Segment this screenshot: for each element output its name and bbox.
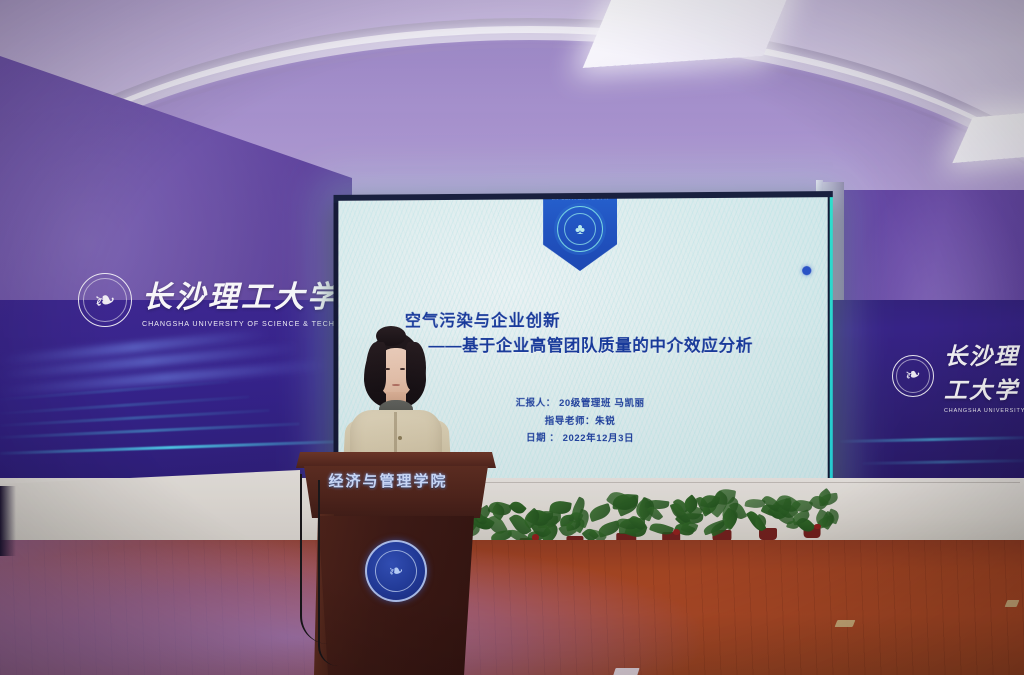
power-cable: [318, 480, 338, 666]
skirt-seam: [460, 482, 1020, 483]
plant-foliage: [548, 503, 601, 541]
presenter-hair-right: [406, 342, 426, 390]
plant-leaf: [647, 504, 664, 522]
floor-paper-scrap: [612, 668, 639, 675]
screen-edge-highlight: [830, 197, 833, 493]
plant-leaf: [549, 499, 571, 515]
potted-plant: [644, 495, 699, 544]
cardigan-button: [398, 436, 402, 440]
left-shadow-band: [0, 486, 16, 556]
presentation-photo: ❧ 长沙理工大学 CHANGSHA UNIVERSITY OF SCIENCE …: [0, 0, 1024, 675]
floor-tape-marker: [835, 620, 856, 627]
badge-seal-icon: ♣: [557, 206, 603, 252]
potted-plant: [786, 491, 839, 538]
presenter-hair-left: [366, 342, 386, 392]
plant-red-flower: [814, 524, 821, 530]
university-name-en: CHANGSHA UNIVERSITY OF: [944, 408, 1024, 414]
slide-corner-dot: [802, 266, 811, 275]
plant-leaf: [649, 520, 674, 537]
university-seal-icon: ❧: [78, 273, 132, 327]
plant-foliage: [786, 494, 839, 532]
badge-seal-glyph: ♣: [564, 213, 596, 245]
slide-title: 空气污染与企业创新: [338, 307, 827, 332]
wall-logo-right: ❧ 长沙理工大学 CHANGSHA UNIVERSITY OF: [892, 337, 1024, 414]
lectern-university-seal-icon: ❧: [365, 540, 427, 602]
lectern-seal-glyph: ❧: [372, 547, 421, 596]
university-seal-icon: ❧: [892, 355, 934, 397]
wall-logo-left: ❧ 长沙理工大学 CHANGSHA UNIVERSITY OF SCIENCE …: [78, 272, 371, 328]
lectern-top: [296, 452, 496, 468]
university-name-cn: 长沙理工大学: [944, 337, 1024, 405]
plant-foliage: [644, 498, 699, 537]
slide-badge: 长沙理工大学经济与管理学院 ♣: [543, 197, 617, 271]
